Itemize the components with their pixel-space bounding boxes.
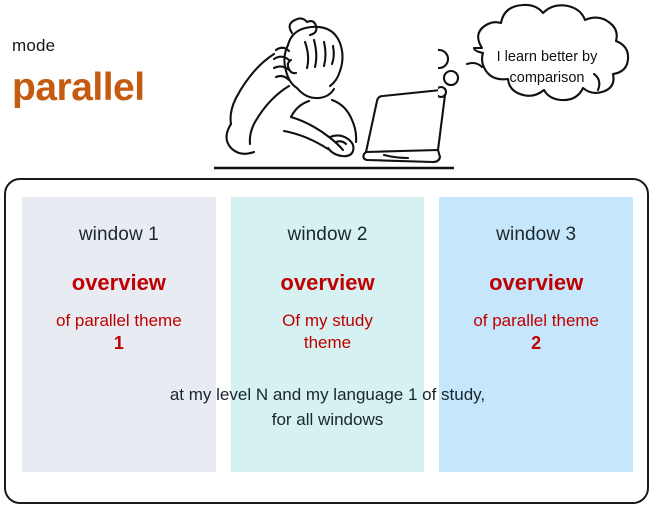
window-panel-3-overview: overview bbox=[439, 270, 633, 296]
window-panel-1-sub-line-1: of parallel theme bbox=[56, 311, 182, 330]
person-thinking-at-laptop-illustration bbox=[214, 2, 454, 174]
window-panel-2[interactable]: window 2 overview Of my study theme bbox=[231, 197, 425, 472]
window-panel-1-overview: overview bbox=[22, 270, 216, 296]
panels-container: window 1 overview of parallel theme 1 wi… bbox=[22, 197, 633, 472]
window-panel-3[interactable]: window 3 overview of parallel theme 2 bbox=[439, 197, 633, 472]
window-panel-3-subtitle: of parallel theme 2 bbox=[439, 310, 633, 355]
thought-bubble: I learn better by comparison bbox=[438, 2, 656, 134]
thought-dot-1 bbox=[438, 87, 446, 97]
window-panel-1[interactable]: window 1 overview of parallel theme 1 bbox=[22, 197, 216, 472]
window-panel-1-subtitle: of parallel theme 1 bbox=[22, 310, 216, 355]
mode-value: parallel bbox=[12, 68, 145, 107]
header-area: mode parallel bbox=[0, 0, 656, 172]
window-panel-2-sub-line-2: theme bbox=[304, 333, 351, 352]
windows-card: window 1 overview of parallel theme 1 wi… bbox=[4, 178, 649, 504]
window-panel-2-title: window 2 bbox=[231, 224, 425, 246]
mode-label: mode bbox=[12, 36, 55, 56]
window-panel-3-sub-line-1: of parallel theme bbox=[473, 311, 599, 330]
window-panel-1-sub-line-2: 1 bbox=[114, 333, 124, 353]
window-panel-2-overview: overview bbox=[231, 270, 425, 296]
window-panel-3-title: window 3 bbox=[439, 224, 633, 246]
window-panel-1-title: window 1 bbox=[22, 224, 216, 246]
window-panel-2-subtitle: Of my study theme bbox=[231, 310, 425, 354]
window-panel-2-sub-line-1: Of my study bbox=[282, 311, 373, 330]
window-panel-3-sub-line-2: 2 bbox=[531, 333, 541, 353]
